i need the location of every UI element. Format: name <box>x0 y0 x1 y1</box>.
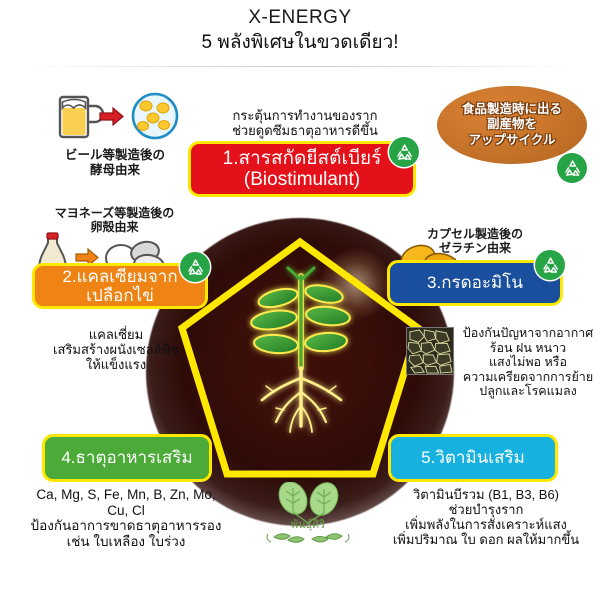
recycle-icon <box>389 137 419 167</box>
item-4-label: 4.ธาตุอาหารเสริม <box>55 448 198 467</box>
item-4-caption-line-1: Ca, Mg, S, Fe, Mn, B, Zn, Mo, <box>36 487 215 502</box>
brand-text: พันธุ์ศิริ <box>291 518 325 531</box>
item-2-caption-line-3: ให้แข็งแรง <box>86 357 146 372</box>
item-3-caption-line-1: ป้องกันปัญหาจากอากาศ <box>463 326 593 340</box>
item-2-source-caption: マヨネーズ等製造後の 卵殻由来 <box>22 207 207 235</box>
item-4-caption-below: Ca, Mg, S, Fe, Mn, B, Zn, Mo, Cu, Cl ป้อ… <box>10 487 242 550</box>
upcycle-badge: 食品製造時に出る 副産物を アップサイクル <box>437 86 587 164</box>
item-5-box[interactable]: 5.วิตามินเสริม <box>388 434 558 482</box>
item-1-label-line-1: 1.สารสกัดยีสต์เบียร์ <box>223 148 382 169</box>
plant-cell-micrograph <box>406 327 454 375</box>
page-header: X-ENERGY 5 พลังพิเศษในขวดเดียว! <box>0 6 600 55</box>
item-3-caption-line-4: ความเครียดจากการย้าย <box>463 370 593 384</box>
page-title: X-ENERGY <box>0 6 600 30</box>
item-3-caption-line-5: ปลูกและโรคแมลง <box>479 384 576 398</box>
item-2-caption-line-2: เสริมสร้างผนังเซลล์พืช <box>53 342 179 357</box>
item-1-caption-above: กระตุ้นการทำงานของราก ช่วยดูดซึมธาตุอาหา… <box>190 108 420 138</box>
recycle-icon <box>180 252 210 282</box>
item-1-source-line-1: ビール等製造後の <box>65 148 165 162</box>
item-3-label: 3.กรดอะมิโน <box>421 273 529 292</box>
item-4-caption-line-2: Cu, Cl <box>107 503 145 518</box>
item-5-caption-line-4: เพิ่มปริมาณ ใบ ดอก ผลให้มากขึ้น <box>393 532 579 547</box>
item-5-caption-line-3: เพิ่มพลังในการสังเคราะห์แสง <box>405 517 567 532</box>
item-1-source-caption: ビール等製造後の 酵母由来 <box>35 148 195 177</box>
item-2-label: 2.แคลเซียมจากเปลือกไข่ <box>35 267 205 305</box>
item-3-caption-line-3: แสงไม่พอ หรือ <box>489 355 567 369</box>
recycle-icon <box>557 153 587 183</box>
plant-illustration <box>246 250 356 440</box>
item-1-source-line-2: 酵母由来 <box>90 163 140 177</box>
item-5-caption-line-2: ช่วยบำรุงราก <box>449 502 524 517</box>
item-5-caption-below: วิตามินบีรวม (B1, B3, B6) ช่วยบำรุงราก เ… <box>372 487 600 547</box>
item-3-source-line-1: カプセル製造後の <box>427 227 523 241</box>
item-5-label: 5.วิตามินเสริม <box>415 448 531 467</box>
item-5-caption-line-1: วิตามินบีรวม (B1, B3, B6) <box>413 487 559 502</box>
item-4-caption-line-4: เช่น ใบเหลือง ใบร่วง <box>67 534 186 549</box>
infographic-canvas: X-ENERGY 5 พลังพิเศษในขวดเดียว! <box>0 0 600 600</box>
item-4-box[interactable]: 4.ธาตุอาหารเสริม <box>42 434 212 482</box>
item-4-caption-line-3: ป้องกันอาการขาดธาตุอาหารรอง <box>31 518 222 533</box>
beer-mug-to-yeast-dish-icon <box>48 88 188 146</box>
upcycle-line-2: 副産物を <box>487 117 537 131</box>
header-divider <box>26 66 574 67</box>
item-1-label-line-2: (Biostimulant) <box>244 169 360 190</box>
upcycle-line-3: アップサイクル <box>469 133 556 147</box>
item-1-box[interactable]: 1.สารสกัดยีสต์เบียร์ (Biostimulant) <box>188 141 416 197</box>
page-subtitle: 5 พลังพิเศษในขวดเดียว! <box>0 30 600 55</box>
item-3-caption-line-2: ร้อน ฝน หนาว <box>490 341 566 355</box>
item-2-source-line-1: マヨネーズ等製造後の <box>55 206 174 220</box>
upcycle-badge-text: 食品製造時に出る 副産物を アップサイクル <box>462 102 562 149</box>
item-1-caption-line-2: ช่วยดูดซึมธาตุอาหารดีขึ้น <box>232 123 378 138</box>
sprout-leaves-logo: พันธุ์ศิริ <box>262 482 354 548</box>
upcycle-line-1: 食品製造時に出る <box>462 102 562 116</box>
item-1-label: 1.สารสกัดยีสต์เบียร์ (Biostimulant) <box>217 148 388 191</box>
item-2-caption-line-1: แคลเซี่ยม <box>89 327 144 342</box>
item-1-caption-line-1: กระตุ้นการทำงานของราก <box>233 108 378 123</box>
recycle-icon <box>535 250 565 280</box>
item-2-caption-below: แคลเซี่ยม เสริมสร้างผนังเซลล์พืช ให้แข็ง… <box>18 327 214 372</box>
item-3-caption-below: ป้องกันปัญหาจากอากาศ ร้อน ฝน หนาว แสงไม่… <box>458 326 598 399</box>
